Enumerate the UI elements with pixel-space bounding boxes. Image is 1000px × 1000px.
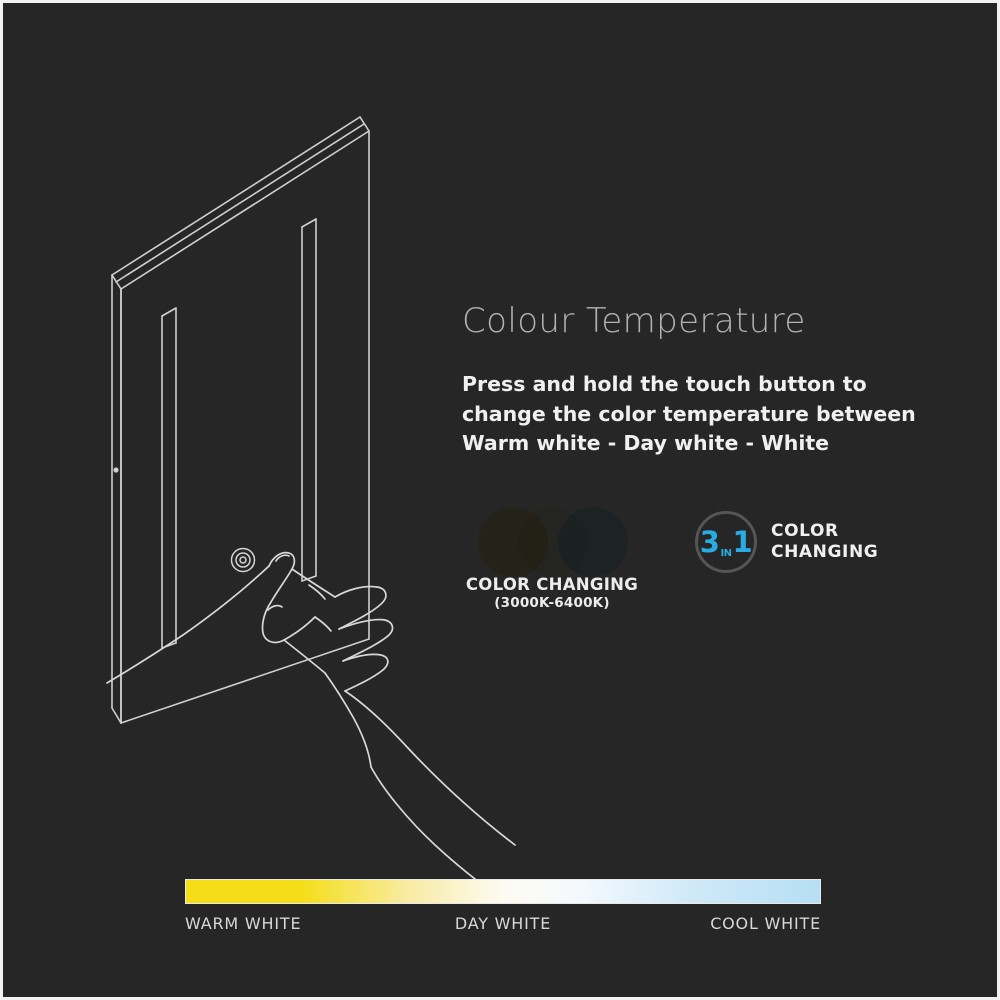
color-changing-kelvin-range: (3000K-6400K) (462, 595, 642, 613)
scale-label-warm-white: WARM WHITE (185, 914, 301, 933)
touch-sensor-button-icon[interactable] (232, 549, 255, 572)
color-changing-title: COLOR CHANGING (462, 576, 642, 595)
mounting-dot-icon (113, 467, 118, 472)
three-in-one-label: COLOR CHANGING (771, 521, 878, 564)
three-in-one-number: 3 IN 1 (695, 511, 757, 573)
led-mirror-illustration (63, 83, 663, 883)
three-in-one-label-line-2: CHANGING (771, 542, 878, 563)
three-in-one-first-number: 3 (700, 528, 720, 557)
three-in-one-label-line-1: COLOR (771, 521, 878, 542)
colour-temperature-scale: WARM WHITE DAY WHITE COOL WHITE (185, 879, 821, 936)
scale-label-day-white: DAY WHITE (455, 914, 551, 933)
description-line-3: Warm white - Day white - White (462, 429, 932, 458)
feature-text-block: Colour Temperature Press and hold the to… (462, 303, 932, 458)
scale-label-cool-white: COOL WHITE (710, 914, 821, 933)
product-feature-slide: Colour Temperature Press and hold the to… (0, 0, 1000, 1000)
page-title: Colour Temperature (462, 303, 932, 340)
color-changing-badge: COLOR CHANGING (3000K-6400K) (462, 503, 662, 621)
description-line-1: Press and hold the touch button to (462, 370, 932, 399)
color-changing-badge-label: COLOR CHANGING (3000K-6400K) (462, 576, 642, 613)
mirror-panel-outline (112, 117, 369, 723)
color-circles-group (462, 503, 662, 577)
temperature-gradient-bar (185, 879, 821, 904)
description-line-2: change the color temperature between (462, 400, 932, 429)
temperature-scale-labels: WARM WHITE DAY WHITE COOL WHITE (185, 914, 821, 936)
three-in-one-second-number: 1 (733, 528, 753, 557)
three-in-one-separator: IN (719, 549, 732, 559)
feature-description: Press and hold the touch button to chang… (462, 370, 932, 457)
badge-row: COLOR CHANGING (3000K-6400K) 3 IN 1 COLO… (462, 503, 932, 623)
hand-line-drawing (107, 553, 515, 883)
three-in-one-badge: 3 IN 1 COLOR CHANGING (695, 511, 935, 583)
cool-white-circle-icon (558, 507, 628, 577)
mirror-and-hand-drawing (63, 83, 663, 883)
